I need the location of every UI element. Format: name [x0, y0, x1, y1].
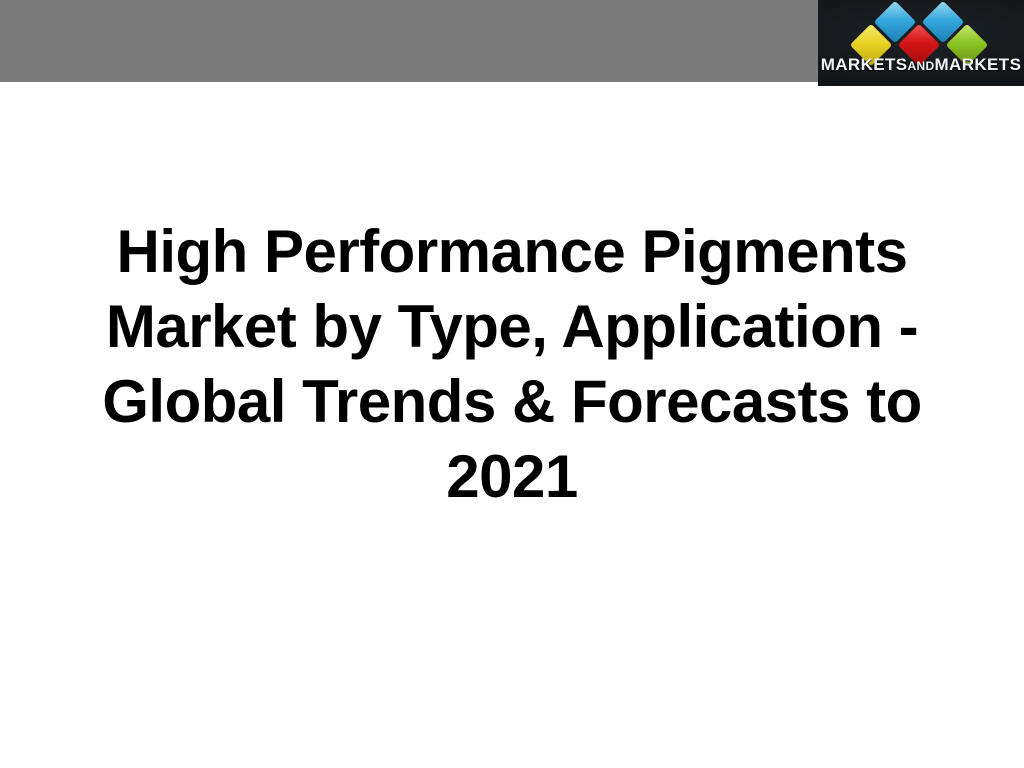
slide-title: High Performance Pigments Market by Type…	[62, 214, 962, 514]
marketsandmarkets-logo: MARKETSANDMARKETS	[818, 0, 1024, 86]
logo-wordmark-markets-2: MARKETS	[934, 55, 1021, 74]
logo-wordmark: MARKETSANDMARKETS	[818, 55, 1024, 75]
presentation-slide: MARKETSANDMARKETS High Performance Pigme…	[0, 0, 1024, 768]
title-line-2: Market by Type, Application -	[62, 289, 962, 364]
title-line-4: 2021	[62, 439, 962, 514]
logo-diamonds-group	[818, 2, 1024, 54]
title-line-1: High Performance Pigments	[62, 214, 962, 289]
logo-wordmark-and: AND	[908, 59, 935, 73]
title-line-3: Global Trends & Forecasts to	[62, 364, 962, 439]
logo-wordmark-markets-1: MARKETS	[821, 55, 908, 74]
